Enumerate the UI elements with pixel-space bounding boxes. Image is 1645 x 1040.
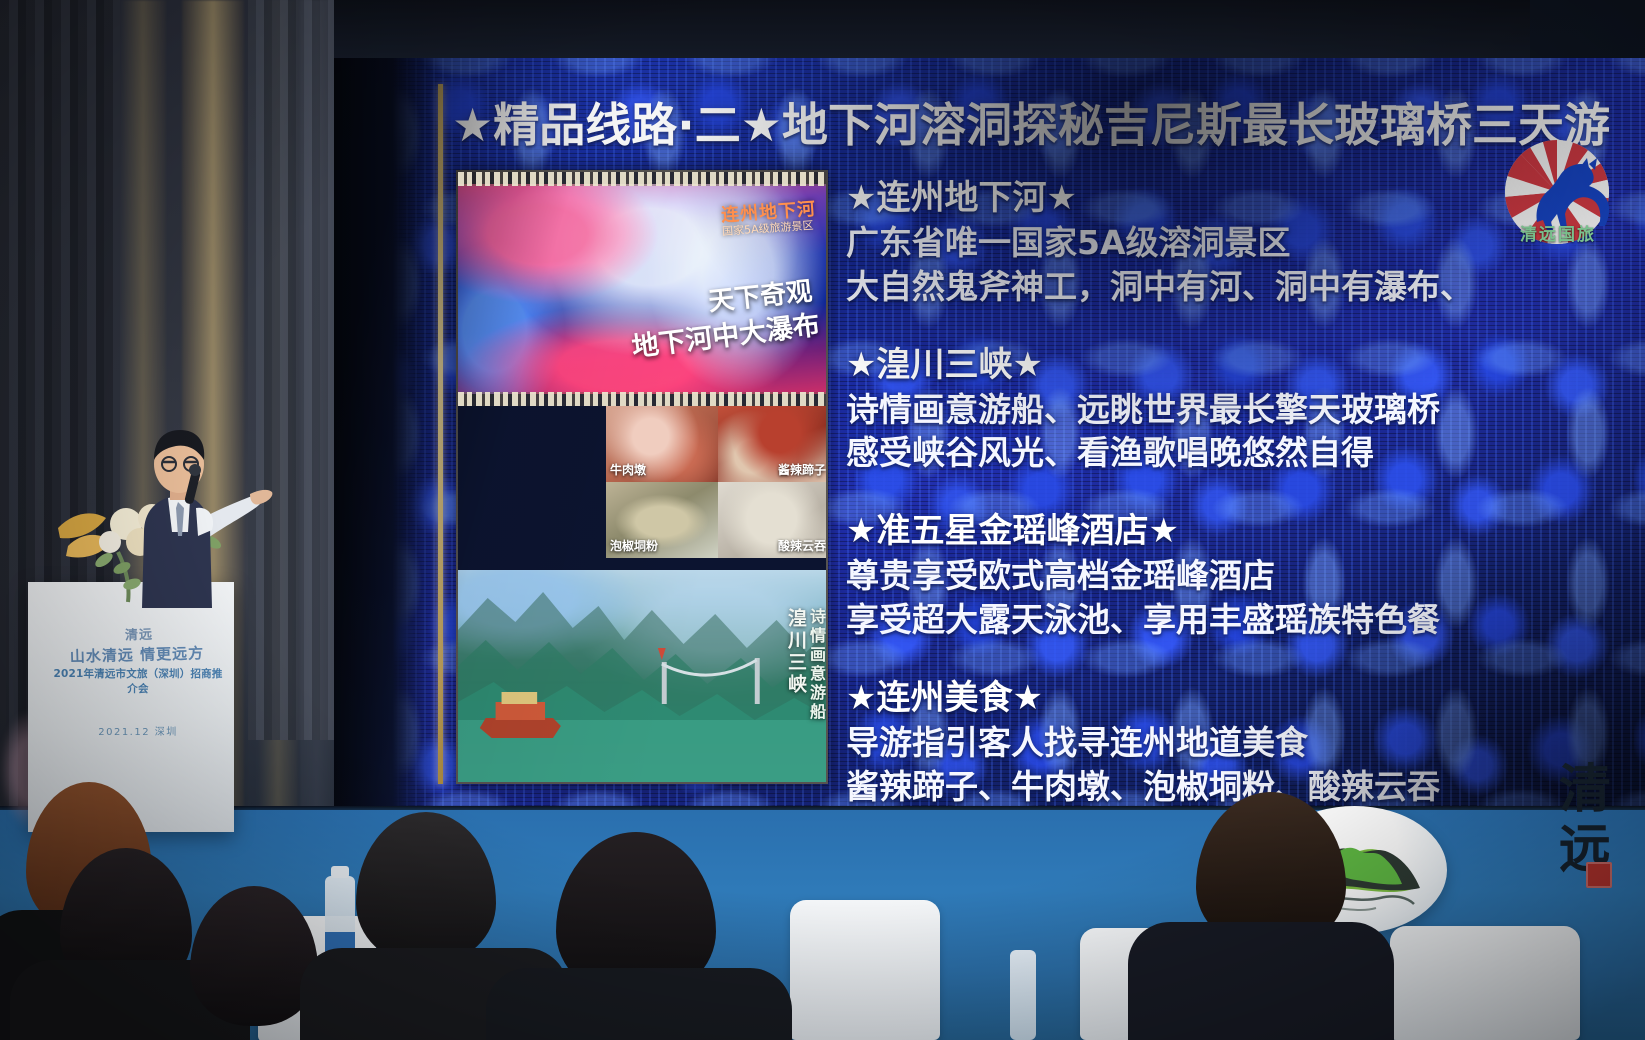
section-heading: ★湟川三峡★: [846, 343, 1636, 388]
podium-date-city: 2021.12 深圳: [60, 723, 216, 738]
ceiling-band: [334, 0, 1645, 60]
chair: [790, 900, 940, 1040]
presenter-person: [100, 412, 280, 642]
slide-title-bar: ★精品线路·二★地下河溶洞探秘吉尼斯最长玻璃桥三天游: [452, 94, 1622, 156]
food-cell-2: 酱辣蹄子: [718, 406, 828, 482]
section-line: 广东省唯一国家5A级溶洞景区: [846, 221, 1636, 265]
calligraphy-char-1: 清: [1552, 760, 1618, 820]
slide-left-edge: [334, 58, 440, 810]
slide-poster-column: 连州地下河 国家5A级旅游景区 天下奇观 地下河中大瀑布 牛肉墩 酱辣蹄子 泡椒…: [456, 170, 828, 784]
section-line: 感受峡谷风光、看渔歌唱晚悠然自得: [846, 431, 1636, 475]
food-cell-1: 牛肉墩: [606, 406, 718, 482]
led-presentation-screen: ★精品线路·二★地下河溶洞探秘吉尼斯最长玻璃桥三天游: [334, 58, 1645, 810]
conference-room-scene: ★精品线路·二★地下河溶洞探秘吉尼斯最长玻璃桥三天游: [0, 0, 1645, 1040]
slide-title: ★精品线路·二★地下河溶洞探秘吉尼斯最长玻璃桥三天游: [452, 102, 1610, 148]
food-label-3: 泡椒垌粉: [610, 537, 658, 554]
section-line: 诗情画意游船、远眺世界最长擎天玻璃桥: [846, 388, 1636, 432]
section-cuisine: ★连州美食★ 导游指引客人找寻连州地道美食 酱辣蹄子、牛肉墩、泡椒垌粉、酸辣云吞: [846, 676, 1636, 809]
section-underground-river: ★连州地下河★ 广东省唯一国家5A级溶洞景区 大自然鬼斧神工，洞中有河、洞中有瀑…: [846, 176, 1636, 309]
landscape-mountains: [458, 570, 826, 784]
section-huangchuan-gorges: ★湟川三峡★ 诗情画意游船、远眺世界最长擎天玻璃桥 感受峡谷风光、看渔歌唱晚悠然…: [846, 343, 1636, 476]
slide-body-text: ★连州地下河★ 广东省唯一国家5A级溶洞景区 大自然鬼斧神工，洞中有河、洞中有瀑…: [846, 176, 1636, 809]
audience-body: [486, 968, 792, 1040]
lace-divider-top: [458, 172, 826, 186]
gold-divider-line: [438, 84, 443, 784]
food-cell-3: 泡椒垌粉: [606, 482, 718, 558]
section-heading: ★连州地下河★: [846, 176, 1636, 221]
section-line: 享受超大露天泳池、享用丰盛瑶族特色餐: [846, 598, 1636, 642]
chair: [1390, 926, 1580, 1040]
podium-event-title: 2021年清远市文旅（深圳）招商推介会: [50, 666, 226, 696]
food-photo-grid: 牛肉墩 酱辣蹄子 泡椒垌粉 酸辣云吞: [606, 406, 828, 558]
section-hotel: ★准五星金瑶峰酒店★ 尊贵享受欧式高档金瑶峰酒店 享受超大露天泳池、享用丰盛瑶族…: [846, 509, 1636, 642]
podium-slogan: 山水清远 情更远方: [52, 642, 222, 667]
section-line: 导游指引客人找寻连州地道美食: [846, 721, 1636, 765]
section-heading: ★连州美食★: [846, 676, 1636, 721]
section-line: 尊贵享受欧式高档金瑶峰酒店: [846, 554, 1636, 598]
audience-body: [1128, 922, 1394, 1040]
red-seal-stamp: [1586, 862, 1612, 888]
food-cell-4: 酸辣云吞: [718, 482, 828, 558]
bottle-cap: [331, 866, 349, 878]
lace-divider-mid: [458, 392, 826, 406]
section-line: 大自然鬼斧神工，洞中有河、洞中有瀑布、: [846, 265, 1636, 309]
landscape-caption-2: 诗情画意游船: [804, 608, 828, 722]
food-label-1: 牛肉墩: [610, 461, 646, 478]
water-bottle-2: [1010, 950, 1036, 1040]
food-label-4: 酸辣云吞: [778, 537, 826, 554]
food-label-2: 酱辣蹄子: [778, 461, 826, 478]
section-heading: ★准五星金瑶峰酒店★: [846, 509, 1636, 554]
